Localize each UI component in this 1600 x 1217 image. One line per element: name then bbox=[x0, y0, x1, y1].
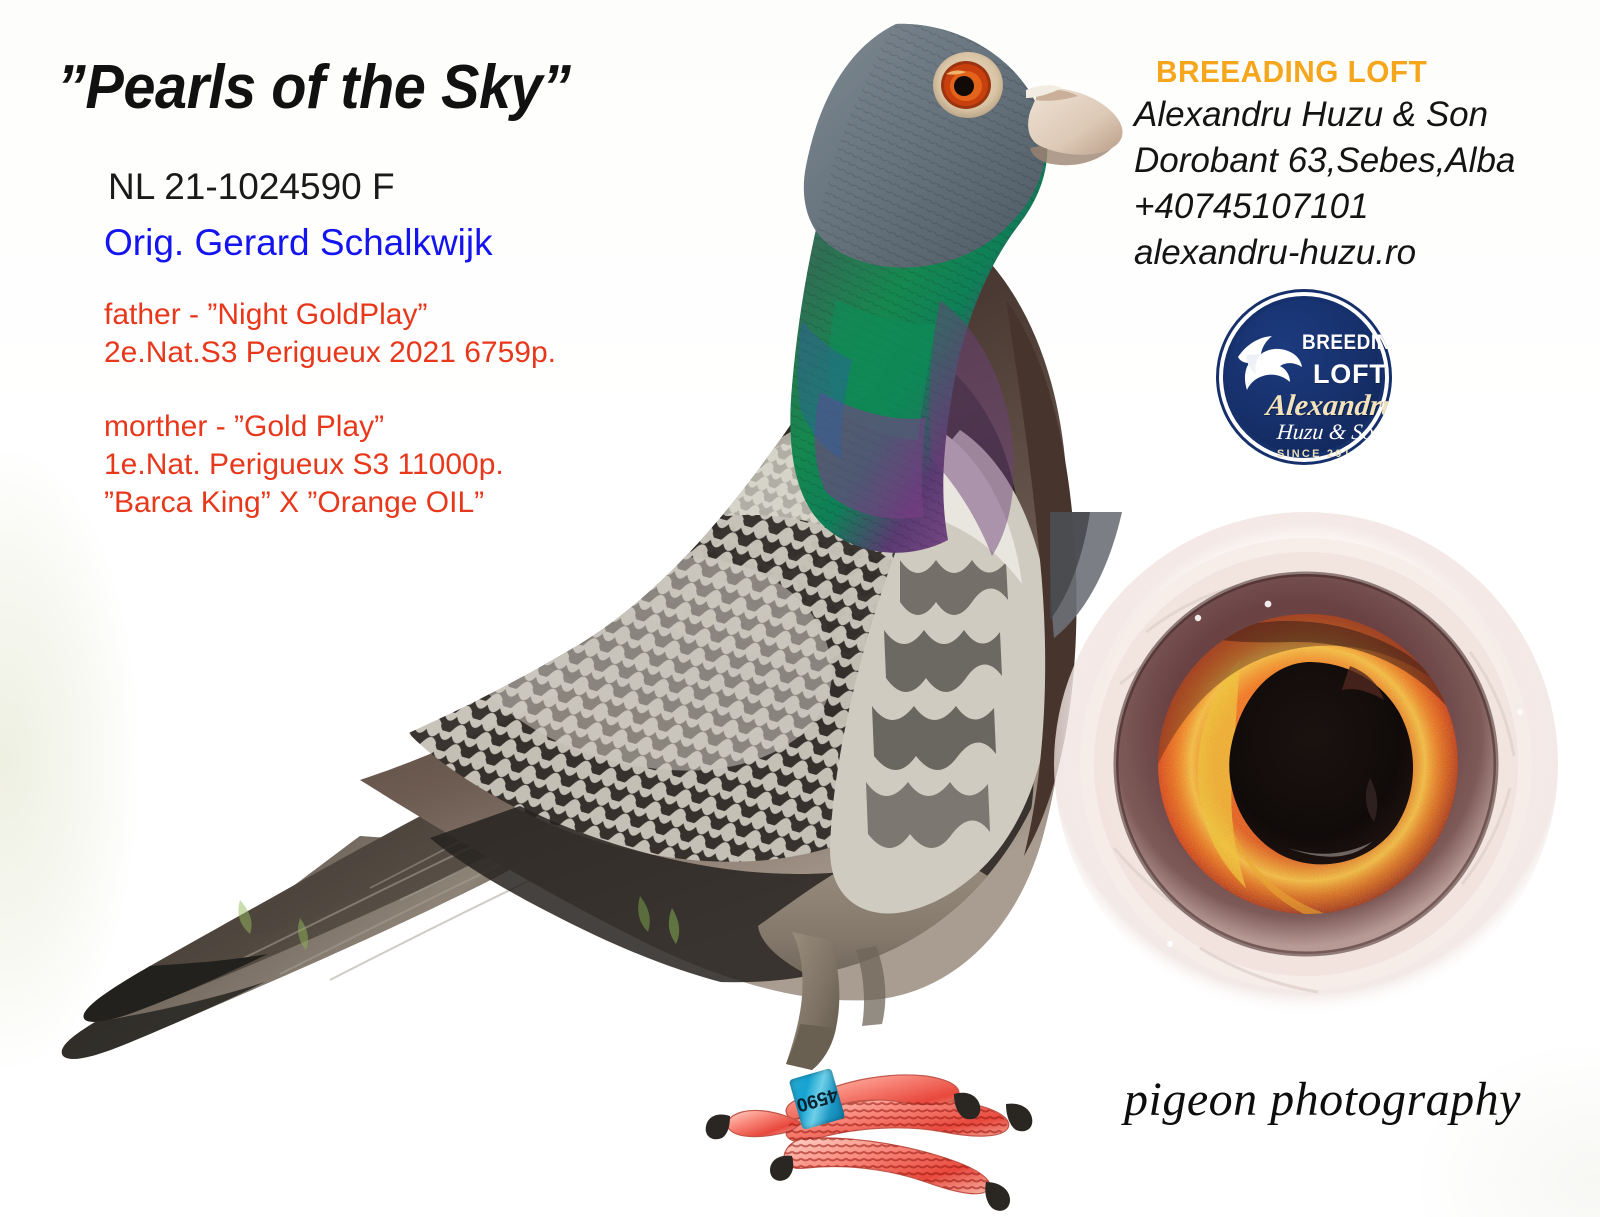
mother-name: morther - ”Gold Play” bbox=[104, 408, 556, 446]
pedigree-spacer bbox=[104, 372, 556, 408]
logo-line-breeding: BREEDING bbox=[1302, 332, 1392, 353]
logo-since-year: SINCE 2013 bbox=[1277, 449, 1360, 460]
loft-kicker: BREEADING LOFT bbox=[1156, 54, 1427, 90]
logo-script-alexandru: Alexandru bbox=[1265, 391, 1392, 421]
mother-result: 1e.Nat. Perigueux S3 11000p. bbox=[104, 446, 556, 484]
pigeon-ring-number: NL 21-1024590 F bbox=[108, 166, 395, 208]
photographer-watermark: pigeon photography bbox=[1124, 1072, 1521, 1127]
mother-parents: ”Barca King” X ”Orange OIL” bbox=[104, 484, 556, 522]
loft-contact-block: Alexandru Huzu & Son Dorobant 63,Sebes,A… bbox=[1134, 92, 1515, 276]
loft-website[interactable]: alexandru-huzu.ro bbox=[1134, 230, 1515, 276]
page-title: ”Pearls of the Sky” bbox=[57, 52, 571, 123]
father-result: 2e.Nat.S3 Perigueux 2021 6759p. bbox=[104, 334, 556, 372]
pedigree-block: father - ”Night GoldPlay” 2e.Nat.S3 Peri… bbox=[104, 296, 556, 522]
loft-phone: +40745107101 bbox=[1134, 184, 1515, 230]
father-name: father - ”Night GoldPlay” bbox=[104, 296, 556, 334]
logo-script-huzu-and-son: Huzu & Son bbox=[1276, 421, 1385, 443]
logo-line-loft: LOFT bbox=[1313, 361, 1387, 388]
poster-canvas: 4590 ”Pearls of the Sky” NL 21-1024590 F… bbox=[0, 0, 1600, 1217]
breeding-loft-logo[interactable]: BREEDING LOFT Alexandru Huzu & Son SINCE… bbox=[1216, 289, 1392, 465]
loft-address: Dorobant 63,Sebes,Alba bbox=[1134, 138, 1515, 184]
loft-name: Alexandru Huzu & Son bbox=[1134, 92, 1515, 138]
pigeon-origin-breeder: Orig. Gerard Schalkwijk bbox=[104, 222, 493, 264]
eye-closeup-photo bbox=[1050, 512, 1570, 1032]
